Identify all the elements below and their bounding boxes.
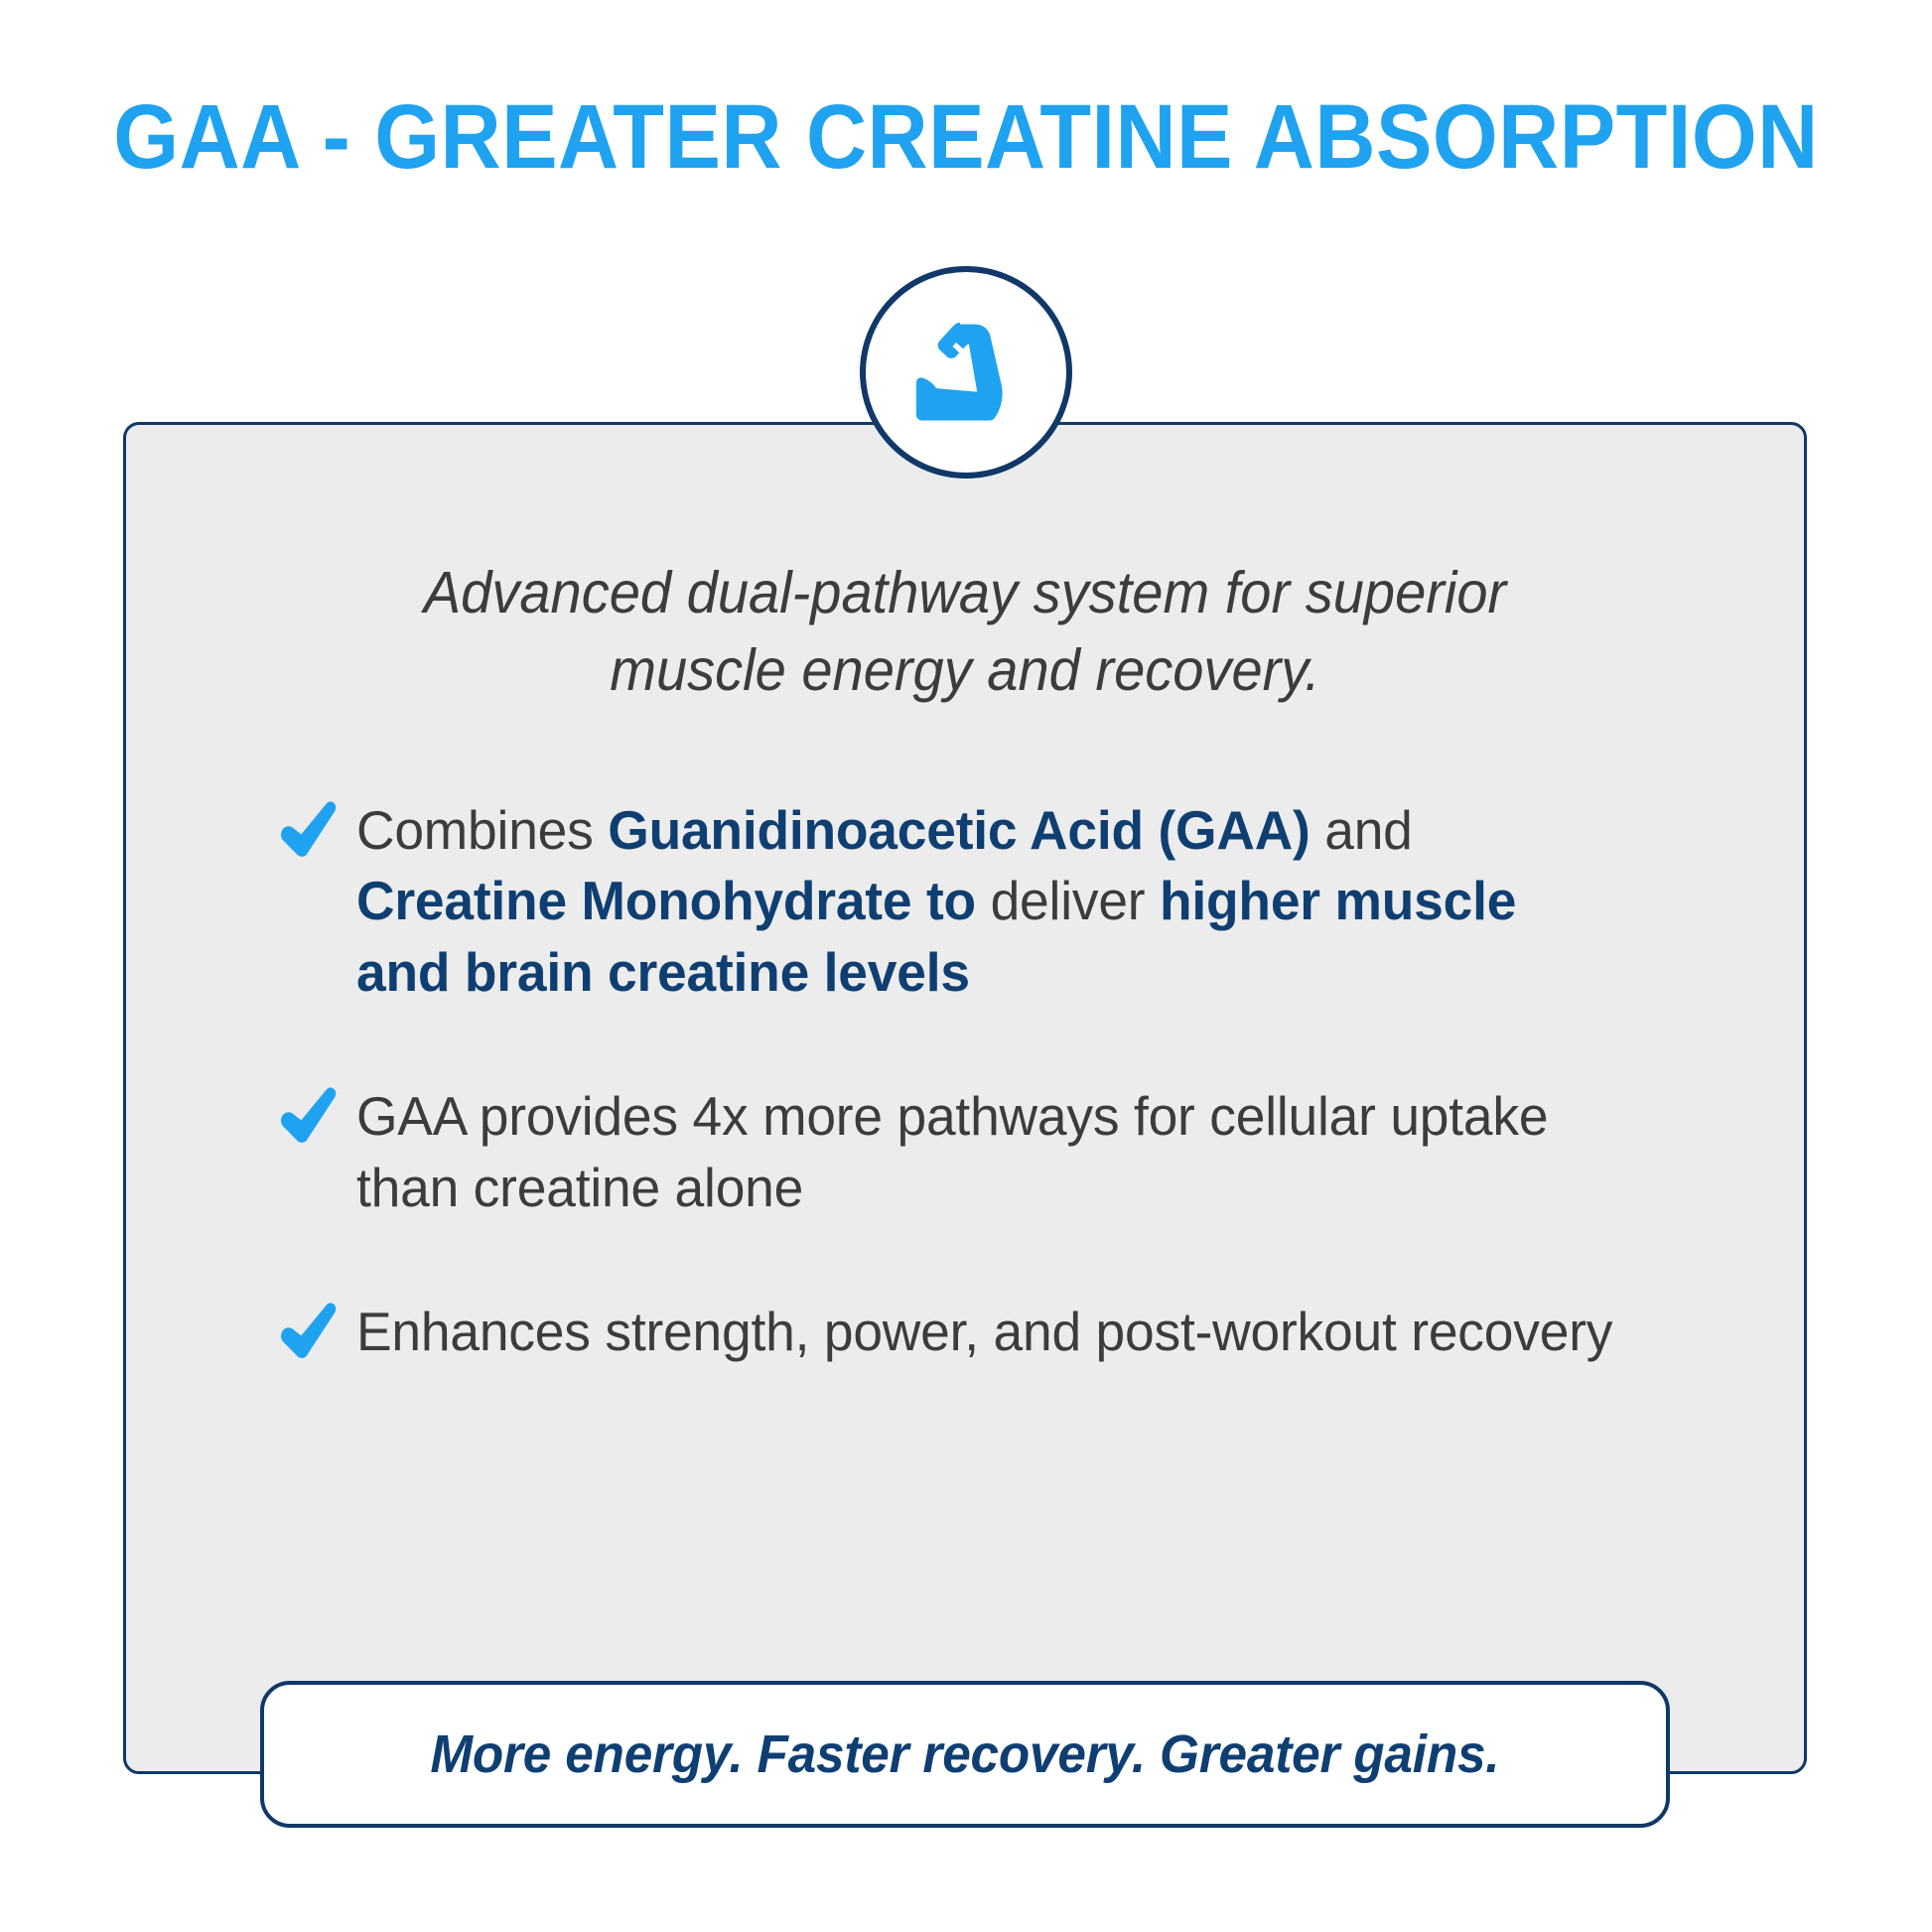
benefit-text: Enhances strength, power, and post-worko… — [356, 1297, 1616, 1368]
benefit-text: Combines Guanidinoacetic Acid (GAA) and … — [356, 795, 1616, 1009]
flexed-biceps-icon — [904, 311, 1028, 434]
benefit-text-plain: Enhances strength, power, and post-worko… — [356, 1301, 1612, 1362]
content-card: Advanced dual-pathway system for superio… — [123, 422, 1807, 1774]
benefit-list: Combines Guanidinoacetic Acid (GAA) and … — [275, 795, 1655, 1368]
checkmark-icon — [275, 1083, 356, 1149]
footer-tagline: More energy. Faster recovery. Greater ga… — [430, 1724, 1499, 1785]
benefit-text-plain: and — [1311, 799, 1413, 861]
icon-medallion — [860, 266, 1072, 479]
infographic-poster: GAA - GREATER CREATINE ABSORPTION Advanc… — [0, 0, 1932, 1932]
benefit-text-emphasis: Guanidinoacetic Acid (GAA) — [608, 799, 1310, 861]
benefit-text-plain: Combines — [356, 799, 608, 861]
benefit-item: Combines Guanidinoacetic Acid (GAA) and … — [275, 795, 1655, 1009]
checkmark-icon — [275, 797, 356, 863]
benefit-text-emphasis: Creatine Monohydrate to — [356, 870, 976, 931]
benefit-item: Enhances strength, power, and post-worko… — [275, 1297, 1655, 1368]
card-inner: Advanced dual-pathway system for superio… — [126, 425, 1804, 1771]
benefit-text-plain: GAA provides 4x more pathways for cellul… — [356, 1085, 1548, 1218]
checkmark-icon — [275, 1299, 356, 1364]
page-title: GAA - GREATER CREATINE ABSORPTION — [77, 89, 1855, 186]
benefit-text: GAA provides 4x more pathways for cellul… — [356, 1081, 1616, 1223]
footer-banner: More energy. Faster recovery. Greater ga… — [260, 1681, 1670, 1828]
benefit-text-plain: deliver — [976, 870, 1160, 931]
benefit-item: GAA provides 4x more pathways for cellul… — [275, 1081, 1655, 1223]
tagline: Advanced dual-pathway system for superio… — [334, 554, 1597, 710]
